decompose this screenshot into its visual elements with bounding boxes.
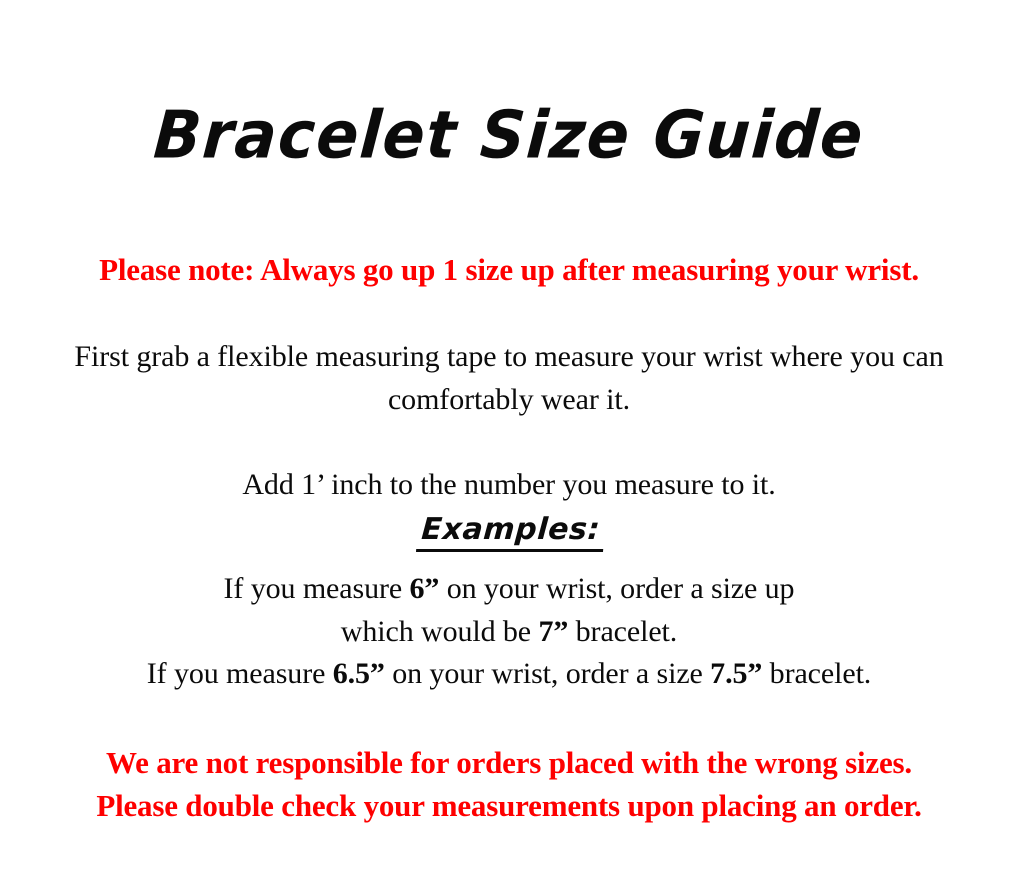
example-line-3: If you measure 6.5” on your wrist, order…: [40, 653, 978, 696]
example-3-measurement-wrist: 6.5”: [333, 657, 385, 690]
example-3-suffix: bracelet.: [762, 657, 871, 690]
please-note-text: Please note: Always go up 1 size up afte…: [0, 252, 1018, 289]
instruction-intro-text: First grab a flexible measuring tape to …: [50, 336, 968, 421]
instruction-add-inch-text: Add 1’ inch to the number you measure to…: [50, 464, 968, 507]
example-3-measurement-bracelet: 7.5”: [710, 657, 762, 690]
example-2-measurement: 7”: [538, 615, 568, 648]
disclaimer-line-2: Please double check your measurements up…: [0, 785, 1018, 828]
bracelet-size-guide-page: Bracelet Size Guide Please note: Always …: [0, 0, 1018, 888]
examples-list: If you measure 6” on your wrist, order a…: [40, 568, 978, 696]
examples-heading: Examples:: [0, 515, 1018, 552]
example-1-measurement: 6”: [409, 572, 439, 605]
example-2-suffix: bracelet.: [568, 615, 677, 648]
example-line-2: which would be 7” bracelet.: [40, 611, 978, 654]
example-1-prefix: If you measure: [224, 572, 410, 605]
page-title: Bracelet Size Guide: [0, 102, 1018, 168]
example-3-prefix: If you measure: [147, 657, 333, 690]
example-line-1: If you measure 6” on your wrist, order a…: [40, 568, 978, 611]
examples-heading-label: Examples:: [416, 515, 605, 552]
example-3-middle: on your wrist, order a size: [385, 657, 710, 690]
disclaimer-block: We are not responsible for orders placed…: [0, 742, 1018, 828]
example-2-prefix: which would be: [341, 615, 539, 648]
disclaimer-line-1: We are not responsible for orders placed…: [0, 742, 1018, 785]
example-1-suffix: on your wrist, order a size up: [439, 572, 794, 605]
